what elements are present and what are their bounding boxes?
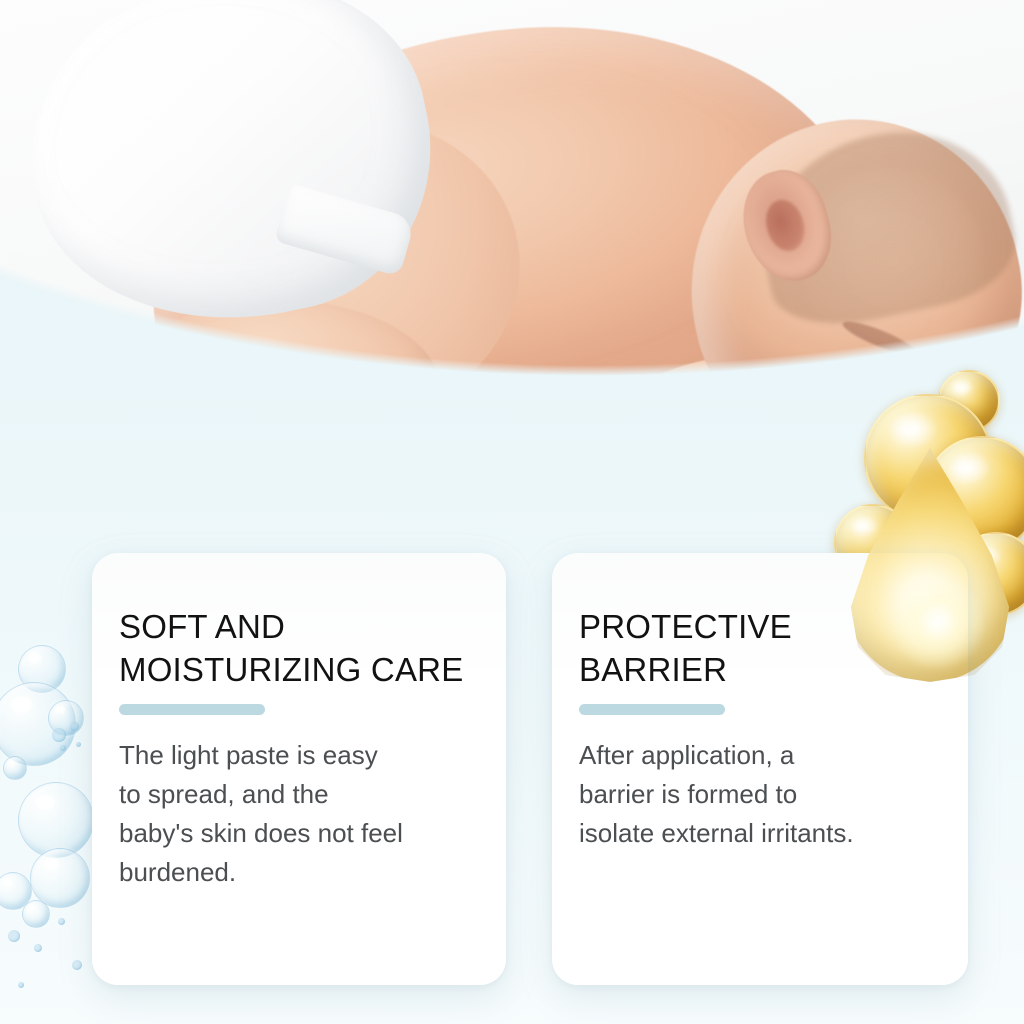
bubble-icon xyxy=(0,872,32,910)
card-title: PROTECTIVE BARRIER xyxy=(579,605,950,691)
feature-card-protective-barrier[interactable]: PROTECTIVE BARRIER After application, a … xyxy=(552,553,968,985)
bubble-icon xyxy=(60,745,66,751)
product-feature-banner: SOFT AND MOISTURIZING CARE The light pas… xyxy=(0,0,1024,1024)
accent-divider xyxy=(119,704,265,715)
bubble-icon xyxy=(76,742,81,747)
card-body-text: After application, a barrier is formed t… xyxy=(579,736,950,853)
card-title: SOFT AND MOISTURIZING CARE xyxy=(119,605,488,691)
bubble-icon xyxy=(8,930,20,942)
bubble-icon xyxy=(18,782,94,858)
bubble-icon xyxy=(3,756,27,780)
card-body-text: The light paste is easy to spread, and t… xyxy=(119,736,488,892)
feature-card-soft-and-moisturizing-care[interactable]: SOFT AND MOISTURIZING CARE The light pas… xyxy=(92,553,506,985)
bubble-icon xyxy=(34,944,42,952)
bubble-icon xyxy=(22,900,50,928)
bubble-icon xyxy=(58,918,65,925)
bubble-icon xyxy=(0,682,76,766)
accent-divider xyxy=(579,704,725,715)
bubble-icon xyxy=(72,960,82,970)
card-content: SOFT AND MOISTURIZING CARE The light pas… xyxy=(92,553,506,985)
bubble-icon xyxy=(18,645,66,693)
bubble-icon xyxy=(30,848,90,908)
bubble-icon xyxy=(70,722,79,731)
bubble-icon xyxy=(48,700,84,736)
bubble-icon xyxy=(52,728,66,742)
card-content: PROTECTIVE BARRIER After application, a … xyxy=(552,553,968,985)
bubble-icon xyxy=(18,982,24,988)
